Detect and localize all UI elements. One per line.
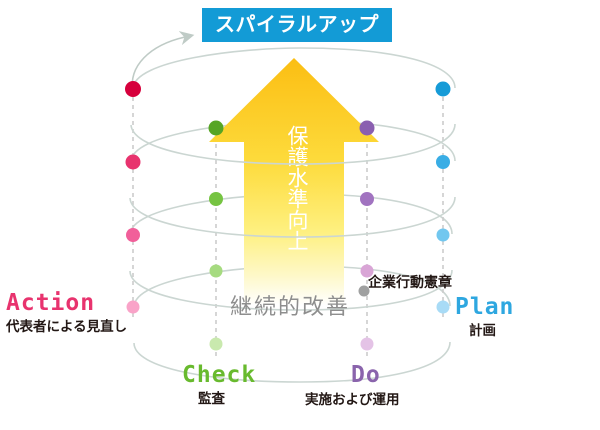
dot-action-1: [125, 81, 141, 97]
dot-plan-4: [437, 301, 450, 314]
title-banner-label: スパイラルアップ: [215, 15, 379, 35]
axis-label-do-jp: 実施および運用: [305, 393, 400, 407]
dot-check-2: [209, 192, 223, 206]
dot-plan-2: [436, 155, 450, 169]
spiral-front-and-nodes: [0, 0, 600, 430]
axis-label-do: Do 実施および運用: [305, 364, 400, 407]
dot-do-1: [360, 121, 375, 136]
axis-label-action-en: Action: [6, 292, 127, 315]
axis-label-check-en: Check: [182, 364, 256, 387]
annotation-continuous-improvement: 継続的改善: [230, 296, 350, 318]
spiral-loops-front: [130, 124, 455, 382]
dot-action-3: [126, 228, 140, 242]
dot-check-4: [210, 338, 223, 351]
spiral-up-diagram: スパイラルアップ 保護水準向上 Action 代表者による見直し Plan 計画…: [0, 0, 600, 430]
axis-label-do-en: Do: [351, 364, 400, 387]
axis-label-plan: Plan 計画: [455, 296, 514, 338]
axis-label-plan-jp: 計画: [469, 324, 514, 338]
title-banner: スパイラルアップ: [202, 8, 392, 42]
dot-action-2: [126, 155, 141, 170]
spiral-direction-arrow: [132, 37, 185, 92]
dot-check-1: [209, 121, 224, 136]
dot-do-4: [361, 338, 374, 351]
axis-dots-do: [360, 121, 375, 351]
axis-label-check-jp: 監査: [198, 392, 256, 406]
dot-check-3: [210, 265, 223, 278]
dot-action-4: [127, 301, 140, 314]
axis-label-plan-en: Plan: [455, 296, 514, 319]
axis-dots-check: [209, 121, 224, 351]
dot-plan-1: [436, 82, 451, 97]
dot-do-2: [360, 192, 374, 206]
axis-label-action: Action 代表者による見直し: [6, 292, 127, 334]
axis-label-action-jp: 代表者による見直し: [6, 320, 127, 334]
annotation-corporate-charter: 企業行動憲章: [368, 275, 452, 289]
axis-label-check: Check 監査: [182, 364, 256, 406]
dot-plan-3: [437, 229, 450, 242]
